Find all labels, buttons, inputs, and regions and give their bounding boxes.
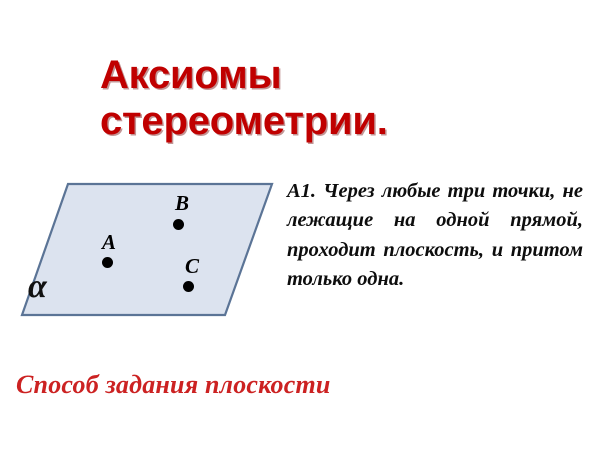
plane-diagram: A B C	[10, 172, 290, 332]
slide-caption: Способ задания плоскости	[16, 370, 456, 400]
point-label-b: B	[175, 193, 189, 214]
point-dot-c	[183, 281, 194, 292]
point-dot-b	[173, 219, 184, 230]
slide-canvas: Аксиомы стереометрии. А1. Через любые тр…	[0, 0, 600, 450]
page-title: Аксиомы стереометрии.	[100, 52, 500, 144]
point-dot-a	[102, 257, 113, 268]
axiom-a1-text: А1. Через любые три точки, не лежащие на…	[287, 177, 583, 295]
plane-parallelogram-shape	[22, 184, 272, 315]
point-label-c: C	[185, 256, 199, 277]
point-label-a: A	[102, 232, 116, 253]
plane-parallelogram-svg	[10, 172, 290, 332]
plane-alpha-symbol: α	[28, 270, 47, 304]
